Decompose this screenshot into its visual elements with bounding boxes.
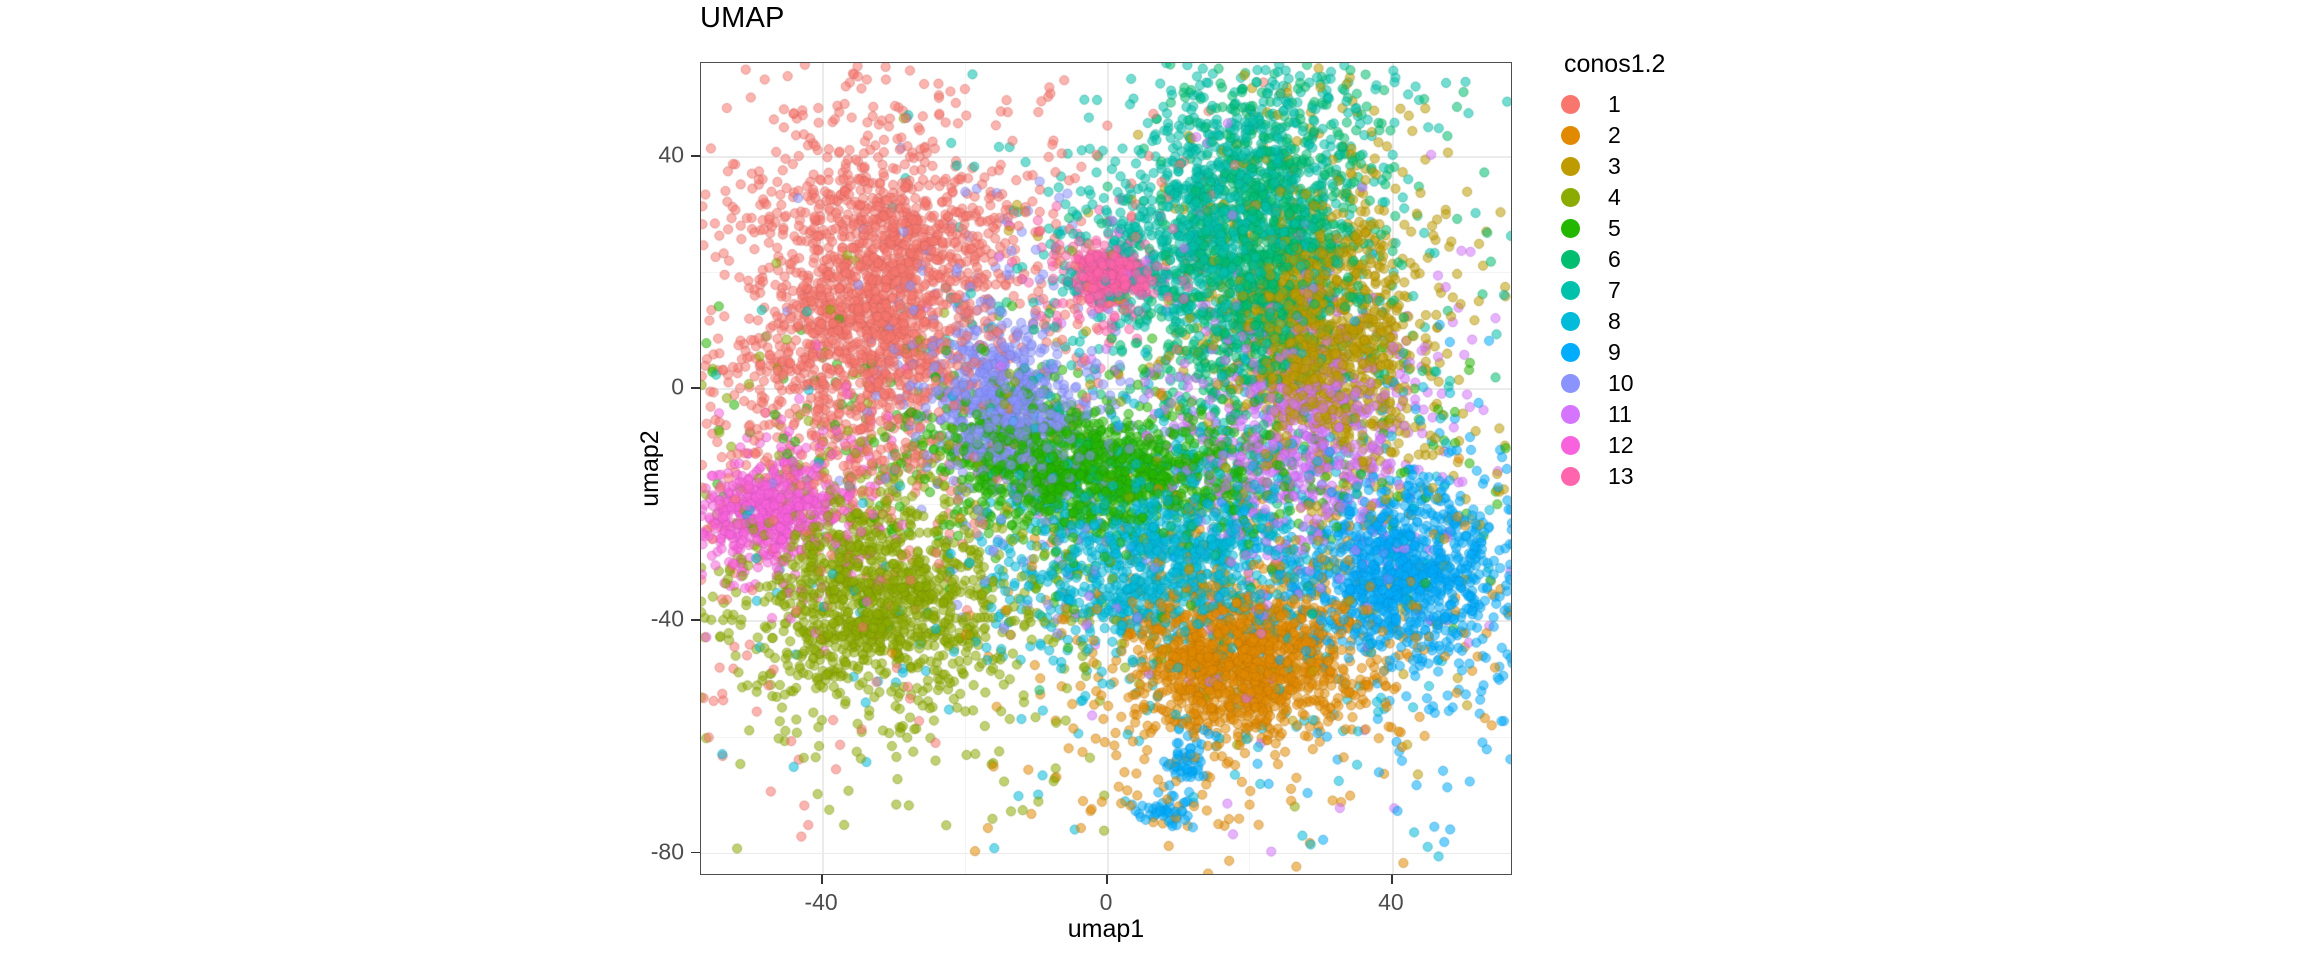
y-axis-tick-label: -80 xyxy=(651,838,684,865)
legend-items: 12345678910111213 xyxy=(1550,89,1810,492)
legend-item-11[interactable]: 11 xyxy=(1550,399,1810,430)
legend-item-label: 10 xyxy=(1608,370,1634,397)
y-axis-tick xyxy=(691,619,700,621)
y-axis-tick xyxy=(691,852,700,854)
umap-plot-figure: UMAP umap1 umap2 conos1.2 12345678910111… xyxy=(0,0,2304,960)
x-axis-tick xyxy=(821,875,823,884)
scatter-points xyxy=(701,63,1511,874)
page-title: UMAP xyxy=(700,2,785,35)
legend-item-13[interactable]: 13 xyxy=(1550,461,1810,492)
legend-swatch-icon xyxy=(1550,89,1590,120)
x-axis-tick xyxy=(1106,875,1108,884)
legend-item-6[interactable]: 6 xyxy=(1550,244,1810,275)
x-axis-tick-label: 40 xyxy=(1378,889,1404,916)
y-axis-tick xyxy=(691,387,700,389)
legend-swatch-icon xyxy=(1550,182,1590,213)
legend-item-7[interactable]: 7 xyxy=(1550,275,1810,306)
legend-item-label: 6 xyxy=(1608,246,1621,273)
legend-swatch-icon xyxy=(1550,337,1590,368)
x-axis-tick-label: 0 xyxy=(1100,889,1113,916)
legend-item-label: 7 xyxy=(1608,277,1621,304)
y-axis-tick-label: -40 xyxy=(651,606,684,633)
legend: conos1.2 12345678910111213 xyxy=(1550,50,1810,492)
x-axis-tick-label: -40 xyxy=(804,889,837,916)
legend-item-3[interactable]: 3 xyxy=(1550,151,1810,182)
legend-title: conos1.2 xyxy=(1564,50,1810,79)
legend-item-10[interactable]: 10 xyxy=(1550,368,1810,399)
legend-item-4[interactable]: 4 xyxy=(1550,182,1810,213)
legend-item-label: 5 xyxy=(1608,215,1621,242)
legend-swatch-icon xyxy=(1550,368,1590,399)
legend-item-label: 2 xyxy=(1608,122,1621,149)
y-axis-tick xyxy=(691,155,700,157)
legend-item-label: 13 xyxy=(1608,463,1634,490)
legend-item-label: 11 xyxy=(1608,401,1632,428)
legend-swatch-icon xyxy=(1550,461,1590,492)
scatter-canvas xyxy=(701,63,1511,874)
legend-swatch-icon xyxy=(1550,275,1590,306)
legend-item-9[interactable]: 9 xyxy=(1550,337,1810,368)
legend-item-label: 8 xyxy=(1608,308,1621,335)
x-axis-tick xyxy=(1391,875,1393,884)
legend-swatch-icon xyxy=(1550,244,1590,275)
legend-swatch-icon xyxy=(1550,399,1590,430)
legend-item-1[interactable]: 1 xyxy=(1550,89,1810,120)
legend-swatch-icon xyxy=(1550,306,1590,337)
legend-item-label: 1 xyxy=(1608,91,1621,118)
legend-item-label: 4 xyxy=(1608,184,1621,211)
legend-item-8[interactable]: 8 xyxy=(1550,306,1810,337)
legend-item-12[interactable]: 12 xyxy=(1550,430,1810,461)
legend-item-5[interactable]: 5 xyxy=(1550,213,1810,244)
legend-swatch-icon xyxy=(1550,213,1590,244)
legend-swatch-icon xyxy=(1550,120,1590,151)
legend-item-label: 12 xyxy=(1608,432,1634,459)
legend-item-2[interactable]: 2 xyxy=(1550,120,1810,151)
y-axis-label: umap2 xyxy=(636,62,665,875)
plot-panel xyxy=(700,62,1512,875)
y-axis-tick-label: 0 xyxy=(671,374,684,401)
legend-item-label: 9 xyxy=(1608,339,1621,366)
legend-item-label: 3 xyxy=(1608,153,1621,180)
legend-swatch-icon xyxy=(1550,151,1590,182)
x-axis-label: umap1 xyxy=(700,915,1512,944)
legend-swatch-icon xyxy=(1550,430,1590,461)
y-axis-tick-label: 40 xyxy=(658,141,684,168)
